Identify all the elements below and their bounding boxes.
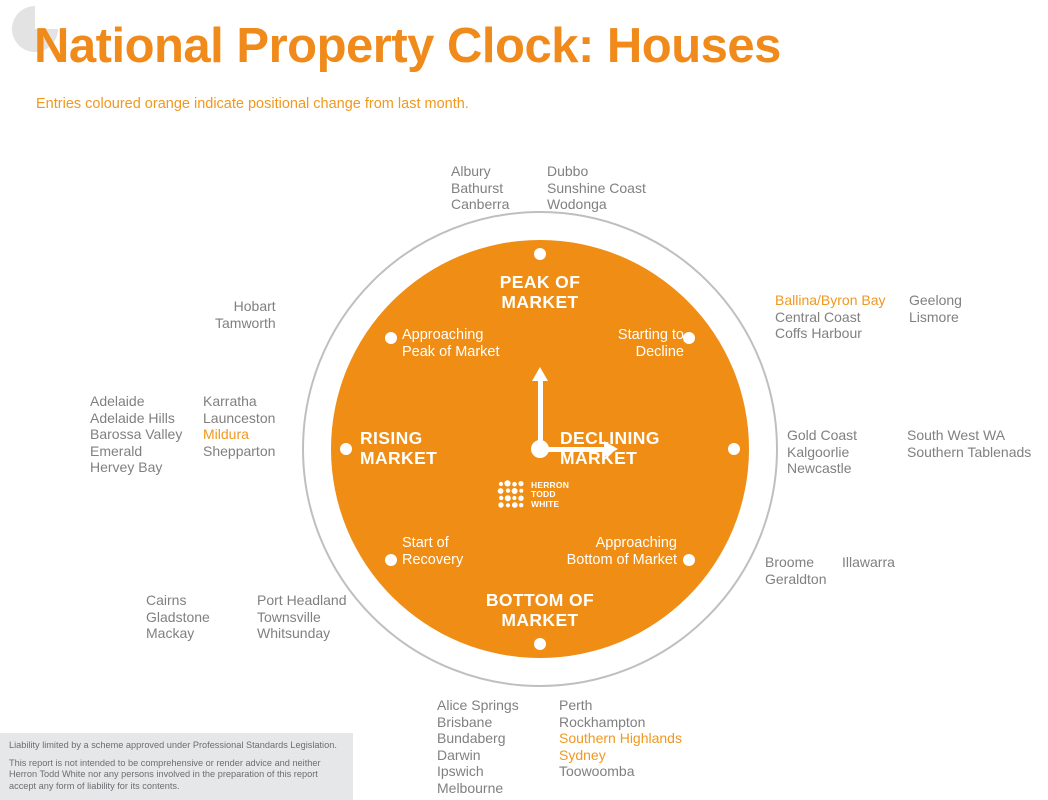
city-entry: Gold Coast <box>787 427 907 444</box>
clock-hand-up-arrowhead-icon <box>532 367 548 381</box>
city-group-approaching-bottom-of-market: BroomeGeraldton Illawarra <box>765 554 895 587</box>
label-peak-of-market-line2: MARKET <box>440 292 640 312</box>
city-entry: Bathurst <box>451 180 547 197</box>
city-entry: Dubbo <box>547 163 646 180</box>
label-bottom-of-market-line1: BOTTOM OF <box>440 590 640 610</box>
city-column: AdelaideAdelaide HillsBarossa ValleyEmer… <box>90 393 203 476</box>
city-entry: Kalgoorlie <box>787 444 907 461</box>
city-group-bottom-of-market: Alice SpringsBrisbaneBundabergDarwinIpsw… <box>437 697 682 797</box>
label-bottom-of-market-line2: MARKET <box>440 610 640 630</box>
city-entry: Melbourne <box>437 780 559 797</box>
city-entry: Port Headland <box>257 592 347 609</box>
city-entry: Sunshine Coast <box>547 180 646 197</box>
label-rising-market: RISING MARKET <box>360 428 520 468</box>
city-entry: Newcastle <box>787 460 907 477</box>
city-entry: Geraldton <box>765 571 842 588</box>
city-column: South West WASouthern Tablenads <box>907 427 1031 477</box>
city-entry: Canberra <box>451 196 547 213</box>
clock-tick-top <box>534 248 546 260</box>
clock-hand-right <box>540 447 606 452</box>
city-column: AlburyBathurstCanberra <box>451 163 547 213</box>
logo-dot-matrix-icon <box>497 480 527 510</box>
city-column: GeelongLismore <box>909 292 962 342</box>
city-entry: Sydney <box>559 747 682 764</box>
city-entry: Ballina/Byron Bay <box>775 292 909 309</box>
city-entry: Shepparton <box>203 443 275 460</box>
label-starting-to-decline: Starting to Decline <box>524 327 684 361</box>
city-entry: Perth <box>559 697 682 714</box>
city-entry: Hervey Bay <box>90 459 203 476</box>
herron-todd-white-logo: HERRON TODD WHITE <box>497 480 569 510</box>
clock-tick-left <box>340 443 352 455</box>
city-entry: Cairns <box>146 592 257 609</box>
city-column: Alice SpringsBrisbaneBundabergDarwinIpsw… <box>437 697 559 797</box>
city-group-rising-market: AdelaideAdelaide HillsBarossa ValleyEmer… <box>90 393 275 476</box>
city-column: DubboSunshine CoastWodonga <box>547 163 646 213</box>
disclaimer-box: Liability limited by a scheme approved u… <box>0 733 353 800</box>
city-column: Illawarra <box>842 554 895 587</box>
city-entry: Adelaide Hills <box>90 410 203 427</box>
clock-tick-bottom <box>534 638 546 650</box>
clock-hand-right-arrowhead-icon <box>604 441 618 457</box>
city-entry: Darwin <box>437 747 559 764</box>
label-start-of-recovery-line2: Recovery <box>402 552 463 569</box>
clock-tick-lower-left <box>385 554 397 566</box>
label-approaching-bottom-line2: Bottom of Market <box>497 552 677 569</box>
clock-tick-lower-right <box>683 554 695 566</box>
logo-wordmark: HERRON TODD WHITE <box>531 481 569 510</box>
city-entry: Brisbane <box>437 714 559 731</box>
city-entry: Emerald <box>90 443 203 460</box>
label-approaching-bottom-line1: Approaching <box>497 535 677 552</box>
city-group-start-of-recovery: CairnsGladstoneMackay Port HeadlandTowns… <box>146 592 347 642</box>
clock-hand-hub <box>531 440 549 458</box>
city-entry: Whitsunday <box>257 625 347 642</box>
city-entry: Rockhampton <box>559 714 682 731</box>
page-subtitle: Entries coloured orange indicate positio… <box>36 96 469 112</box>
city-entry: Lismore <box>909 309 962 326</box>
city-entry: Southern Tablenads <box>907 444 1031 461</box>
city-group-declining-market: Gold CoastKalgoorlieNewcastle South West… <box>787 427 1031 477</box>
city-entry: Karratha <box>203 393 275 410</box>
city-entry: Adelaide <box>90 393 203 410</box>
city-entry: Barossa Valley <box>90 426 203 443</box>
city-column: CairnsGladstoneMackay <box>146 592 257 642</box>
city-column: Port HeadlandTownsvilleWhitsunday <box>257 592 347 642</box>
city-entry: Mackay <box>146 625 257 642</box>
city-entry: Toowoomba <box>559 763 682 780</box>
disclaimer-line-1: Liability limited by a scheme approved u… <box>9 740 344 752</box>
city-entry: Tamworth <box>215 315 276 332</box>
disclaimer-line-2: This report is not intended to be compre… <box>9 758 344 793</box>
city-entry: Wodonga <box>547 196 646 213</box>
label-peak-of-market: PEAK OF MARKET <box>440 272 640 312</box>
city-column: BroomeGeraldton <box>765 554 842 587</box>
label-peak-of-market-line1: PEAK OF <box>440 272 640 292</box>
city-group-approaching-peak-of-market: HobartTamworth <box>215 298 276 331</box>
label-start-of-recovery-line1: Start of <box>402 535 463 552</box>
city-entry: Mildura <box>203 426 275 443</box>
label-rising-market-line2: MARKET <box>360 448 520 468</box>
city-entry: Townsville <box>257 609 347 626</box>
clock-tick-upper-right <box>683 332 695 344</box>
city-entry: South West WA <box>907 427 1031 444</box>
label-start-of-recovery: Start of Recovery <box>402 535 463 569</box>
logo-word-line3: WHITE <box>531 500 569 510</box>
city-column: Gold CoastKalgoorlieNewcastle <box>787 427 907 477</box>
label-approaching-peak-line1: Approaching <box>402 327 500 344</box>
page-title: National Property Clock: Houses <box>34 22 781 71</box>
city-column: PerthRockhamptonSouthern HighlandsSydney… <box>559 697 682 797</box>
city-group-peak-of-market: AlburyBathurstCanberra DubboSunshine Coa… <box>451 163 646 213</box>
city-group-starting-to-decline: Ballina/Byron BayCentral CoastCoffs Harb… <box>775 292 962 342</box>
city-entry: Launceston <box>203 410 275 427</box>
label-declining-market-line1: DECLINING <box>560 428 740 448</box>
city-entry: Geelong <box>909 292 962 309</box>
city-entry: Ipswich <box>437 763 559 780</box>
city-column: KarrathaLauncestonMilduraShepparton <box>203 393 275 476</box>
label-bottom-of-market: BOTTOM OF MARKET <box>440 590 640 630</box>
city-column: Ballina/Byron BayCentral CoastCoffs Harb… <box>775 292 909 342</box>
clock-tick-upper-left <box>385 332 397 344</box>
label-approaching-peak-line2: Peak of Market <box>402 344 500 361</box>
city-entry: Hobart <box>234 298 276 315</box>
label-rising-market-line1: RISING <box>360 428 520 448</box>
city-entry: Southern Highlands <box>559 730 682 747</box>
city-entry: Albury <box>451 163 547 180</box>
city-entry: Illawarra <box>842 554 895 571</box>
city-entry: Alice Springs <box>437 697 559 714</box>
city-entry: Coffs Harbour <box>775 325 909 342</box>
city-entry: Bundaberg <box>437 730 559 747</box>
city-entry: Broome <box>765 554 842 571</box>
city-column: HobartTamworth <box>215 298 276 331</box>
label-starting-to-decline-line1: Starting to <box>524 327 684 344</box>
label-approaching-peak-of-market: Approaching Peak of Market <box>402 327 500 361</box>
label-starting-to-decline-line2: Decline <box>524 344 684 361</box>
label-approaching-bottom-of-market: Approaching Bottom of Market <box>497 535 677 569</box>
city-entry: Central Coast <box>775 309 909 326</box>
city-entry: Gladstone <box>146 609 257 626</box>
clock-hand-up <box>538 373 543 449</box>
